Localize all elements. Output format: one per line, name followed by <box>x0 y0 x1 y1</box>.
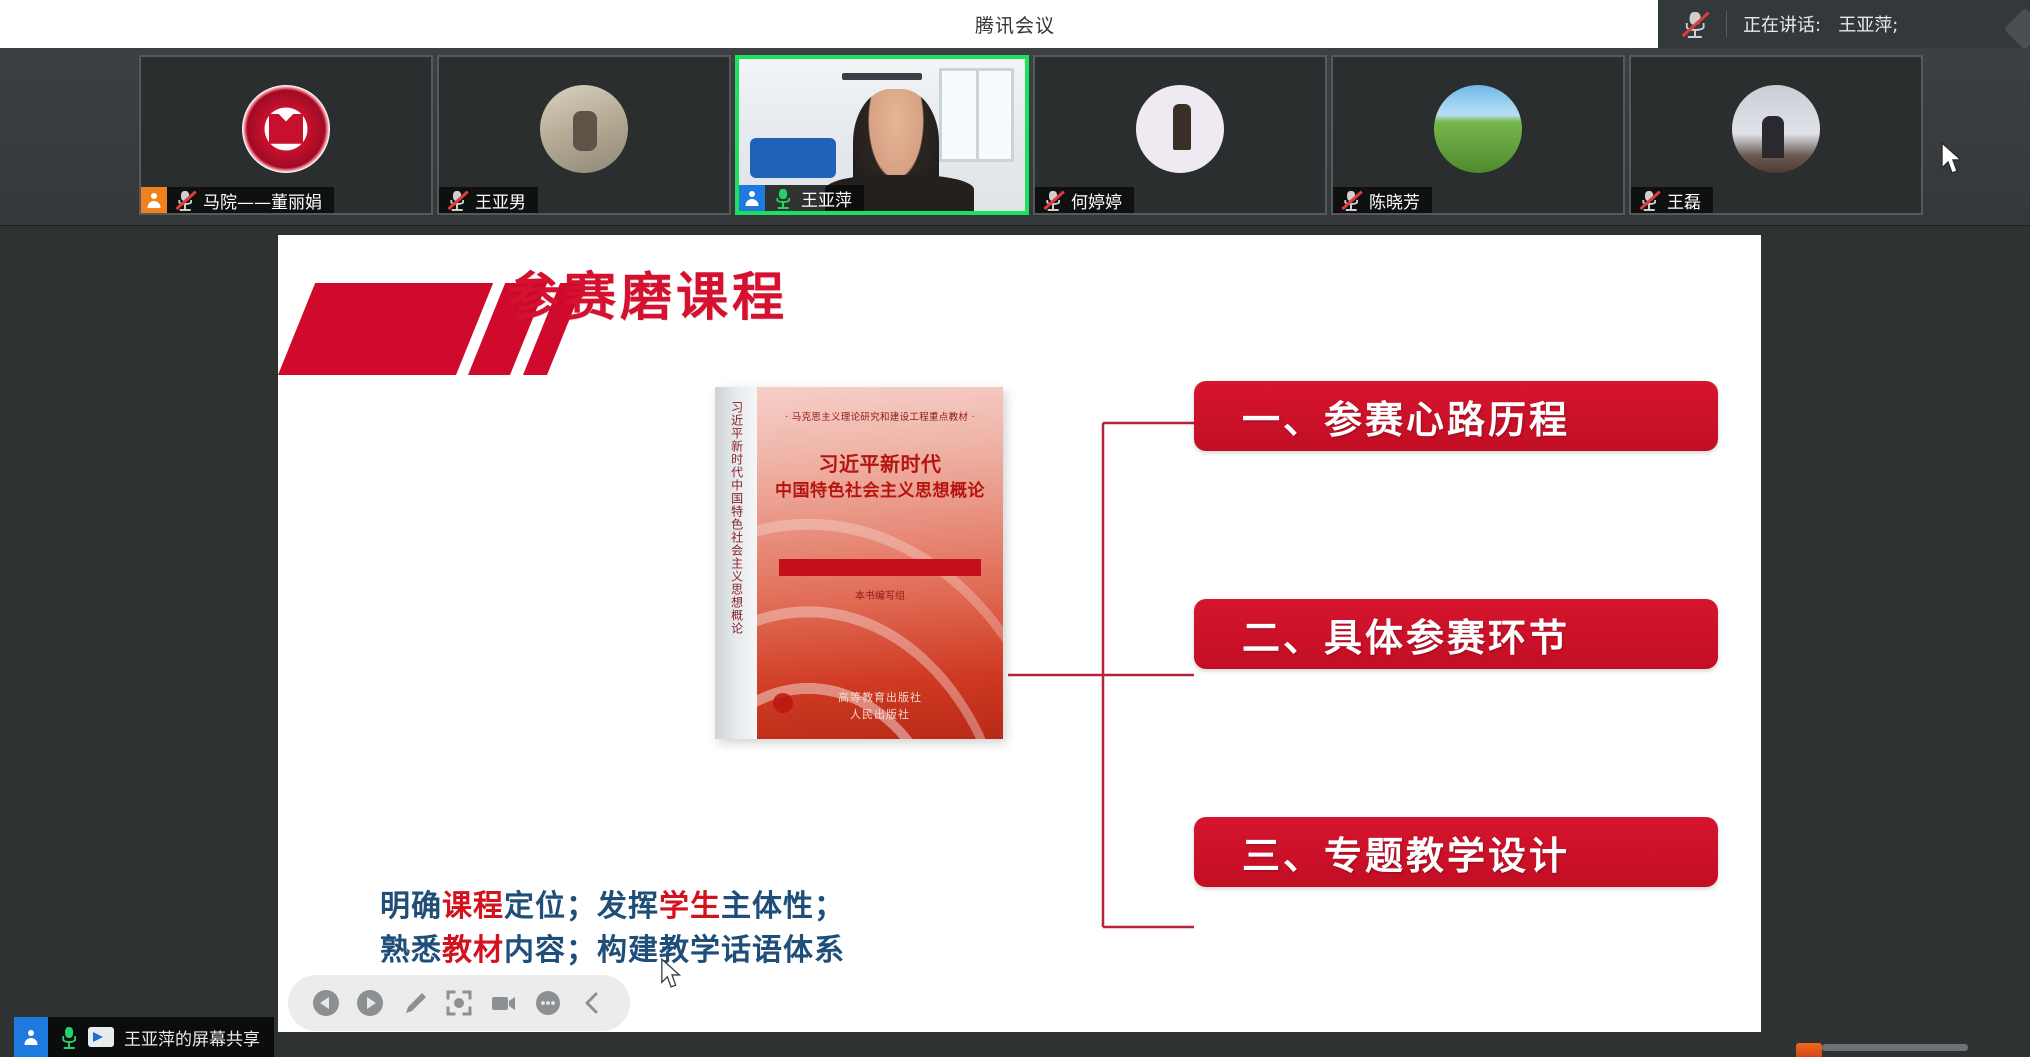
book-title-line2: 中国特色社会主义思想概论 <box>757 479 1003 505</box>
seaside-person-avatar <box>1732 85 1820 173</box>
screen-share-label: 王亚萍的屏幕共享 <box>124 1025 274 1050</box>
next-slide-button[interactable] <box>355 988 385 1018</box>
speaking-label-text: 正在讲话: <box>1743 15 1821 36</box>
taskbar-gray-indicator <box>1822 1044 1968 1051</box>
window-corner-icon[interactable] <box>1996 8 2030 48</box>
spotlight-button[interactable] <box>444 988 474 1018</box>
textbook-cover-image: 习近平新时代中国特色社会主义思想概论 · 马克思主义理论研究和建设工程重点教材 … <box>715 387 1003 739</box>
mic-live-icon <box>58 1024 80 1050</box>
footer-l1-b: 定位；发挥 <box>504 889 659 924</box>
divider <box>1726 11 1727 37</box>
book-publishers: 高等教育出版社 人民出版社 <box>757 690 1003 723</box>
mic-muted-icon <box>1042 189 1064 211</box>
section-box-1-label: 一、参赛心路历程 <box>1194 389 1570 444</box>
book-title-line1: 习近平新时代 <box>819 452 942 476</box>
person-badge-icon <box>739 185 765 211</box>
speaking-name: 王亚萍; <box>1838 15 1898 36</box>
walking-person-avatar <box>1136 85 1224 173</box>
taskbar-orange-indicator <box>1796 1043 1822 1057</box>
university-logo-avatar <box>242 85 330 173</box>
footer-l1-highlight-2: 学生 <box>659 889 721 924</box>
app-title: 腾讯会议 <box>975 11 1055 38</box>
screen-share-icon <box>88 1027 114 1047</box>
participant-namebar: 王亚男 <box>439 187 538 213</box>
book-title: 习近平新时代 中国特色社会主义思想概论 <box>757 449 1003 505</box>
connector-bracket <box>1008 415 1198 935</box>
presenter-toolbar[interactable] <box>288 975 630 1031</box>
book-editor-label: 本书编写组 <box>757 587 1003 602</box>
publisher-line2: 人民出版社 <box>850 708 910 721</box>
participant-name: 王亚萍 <box>799 186 852 211</box>
section-box-2: 二、具体参赛环节 <box>1194 599 1718 669</box>
prev-slide-button[interactable] <box>311 988 341 1018</box>
participant-name: 马院——董丽娟 <box>201 188 322 213</box>
footer-l2-b: 内容；构建教学话语体系 <box>504 933 845 968</box>
mic-muted-icon <box>1340 189 1362 211</box>
participant-filmstrip[interactable]: 马院——董丽娟 王亚男 <box>0 48 2030 226</box>
section-box-3-label: 三、专题教学设计 <box>1194 825 1570 880</box>
window-titlebar: 腾讯会议 正在讲话: 王亚萍; <box>0 0 2030 48</box>
record-button[interactable] <box>488 988 518 1018</box>
book-front-cover: · 马克思主义理论研究和建设工程重点教材 · 习近平新时代 中国特色社会主义思想… <box>757 387 1003 739</box>
speaking-indicator-panel: 正在讲话: 王亚萍; <box>1658 0 2030 48</box>
footer-line-2: 熟悉教材内容；构建教学话语体系 <box>380 929 1180 973</box>
footer-l1-c: 主体性； <box>721 889 845 924</box>
participant-name: 王磊 <box>1665 188 1701 213</box>
slide-title: 参赛磨课程 <box>508 255 788 330</box>
participant-name: 陈晓芳 <box>1367 188 1420 213</box>
participant-namebar: 王磊 <box>1631 187 1713 213</box>
section-box-2-label: 二、具体参赛环节 <box>1194 607 1570 662</box>
publisher-line1: 高等教育出版社 <box>838 691 922 704</box>
footer-l2-a: 熟悉 <box>380 933 442 968</box>
child-photo-avatar <box>540 85 628 173</box>
green-field-avatar <box>1434 85 1522 173</box>
participant-tile[interactable]: 王磊 <box>1629 55 1923 215</box>
participant-tile[interactable]: 王亚男 <box>437 55 731 215</box>
cover-red-rule <box>779 559 981 576</box>
participant-tile-active-speaker[interactable]: 王亚萍 <box>735 55 1029 215</box>
participant-name: 何婷婷 <box>1069 188 1122 213</box>
person-badge-icon <box>141 187 167 213</box>
participant-tile[interactable]: 马院——董丽娟 <box>139 55 433 215</box>
footer-l1-a: 明确 <box>380 889 442 924</box>
footer-l1-highlight-1: 课程 <box>442 889 504 924</box>
participant-namebar: 王亚萍 <box>739 185 864 211</box>
collapse-toolbar-button[interactable] <box>577 988 607 1018</box>
mic-muted-icon <box>1638 189 1660 211</box>
footer-l2-highlight-1: 教材 <box>442 933 504 968</box>
participant-name: 王亚男 <box>473 188 526 213</box>
footer-line-1: 明确课程定位；发挥学生主体性； <box>380 885 1180 929</box>
book-series-label: · 马克思主义理论研究和建设工程重点教材 · <box>757 409 1003 423</box>
book-spine: 习近平新时代中国特色社会主义思想概论 <box>715 387 757 739</box>
red-parallelogram <box>278 283 493 375</box>
person-badge-icon <box>14 1017 48 1057</box>
mic-muted-icon <box>446 189 468 211</box>
participant-namebar: 马院——董丽娟 <box>141 187 334 213</box>
section-box-3: 三、专题教学设计 <box>1194 817 1718 887</box>
participant-tile[interactable]: 陈晓芳 <box>1331 55 1625 215</box>
mic-muted-icon <box>1680 9 1710 39</box>
screen-share-status-bar: 王亚萍的屏幕共享 <box>14 1017 274 1057</box>
participant-namebar: 陈晓芳 <box>1333 187 1432 213</box>
annotate-button[interactable] <box>400 988 430 1018</box>
participant-namebar: 何婷婷 <box>1035 187 1134 213</box>
speaking-label: 正在讲话: 王亚萍; <box>1743 11 1898 37</box>
more-button[interactable] <box>533 988 563 1018</box>
shared-screen-stage: 参赛磨课程 习近平新时代中国特色社会主义思想概论 · 马克思主义理论研究和建设工… <box>0 226 2030 1057</box>
section-box-1: 一、参赛心路历程 <box>1194 381 1718 451</box>
presentation-slide: 参赛磨课程 习近平新时代中国特色社会主义思想概论 · 马克思主义理论研究和建设工… <box>278 235 1761 1032</box>
participant-tile[interactable]: 何婷婷 <box>1033 55 1327 215</box>
mic-muted-icon <box>174 189 196 211</box>
mic-live-icon <box>772 187 794 209</box>
slide-footer-text: 明确课程定位；发挥学生主体性； 熟悉教材内容；构建教学话语体系 <box>380 885 1180 972</box>
book-spine-text: 习近平新时代中国特色社会主义思想概论 <box>729 401 742 635</box>
